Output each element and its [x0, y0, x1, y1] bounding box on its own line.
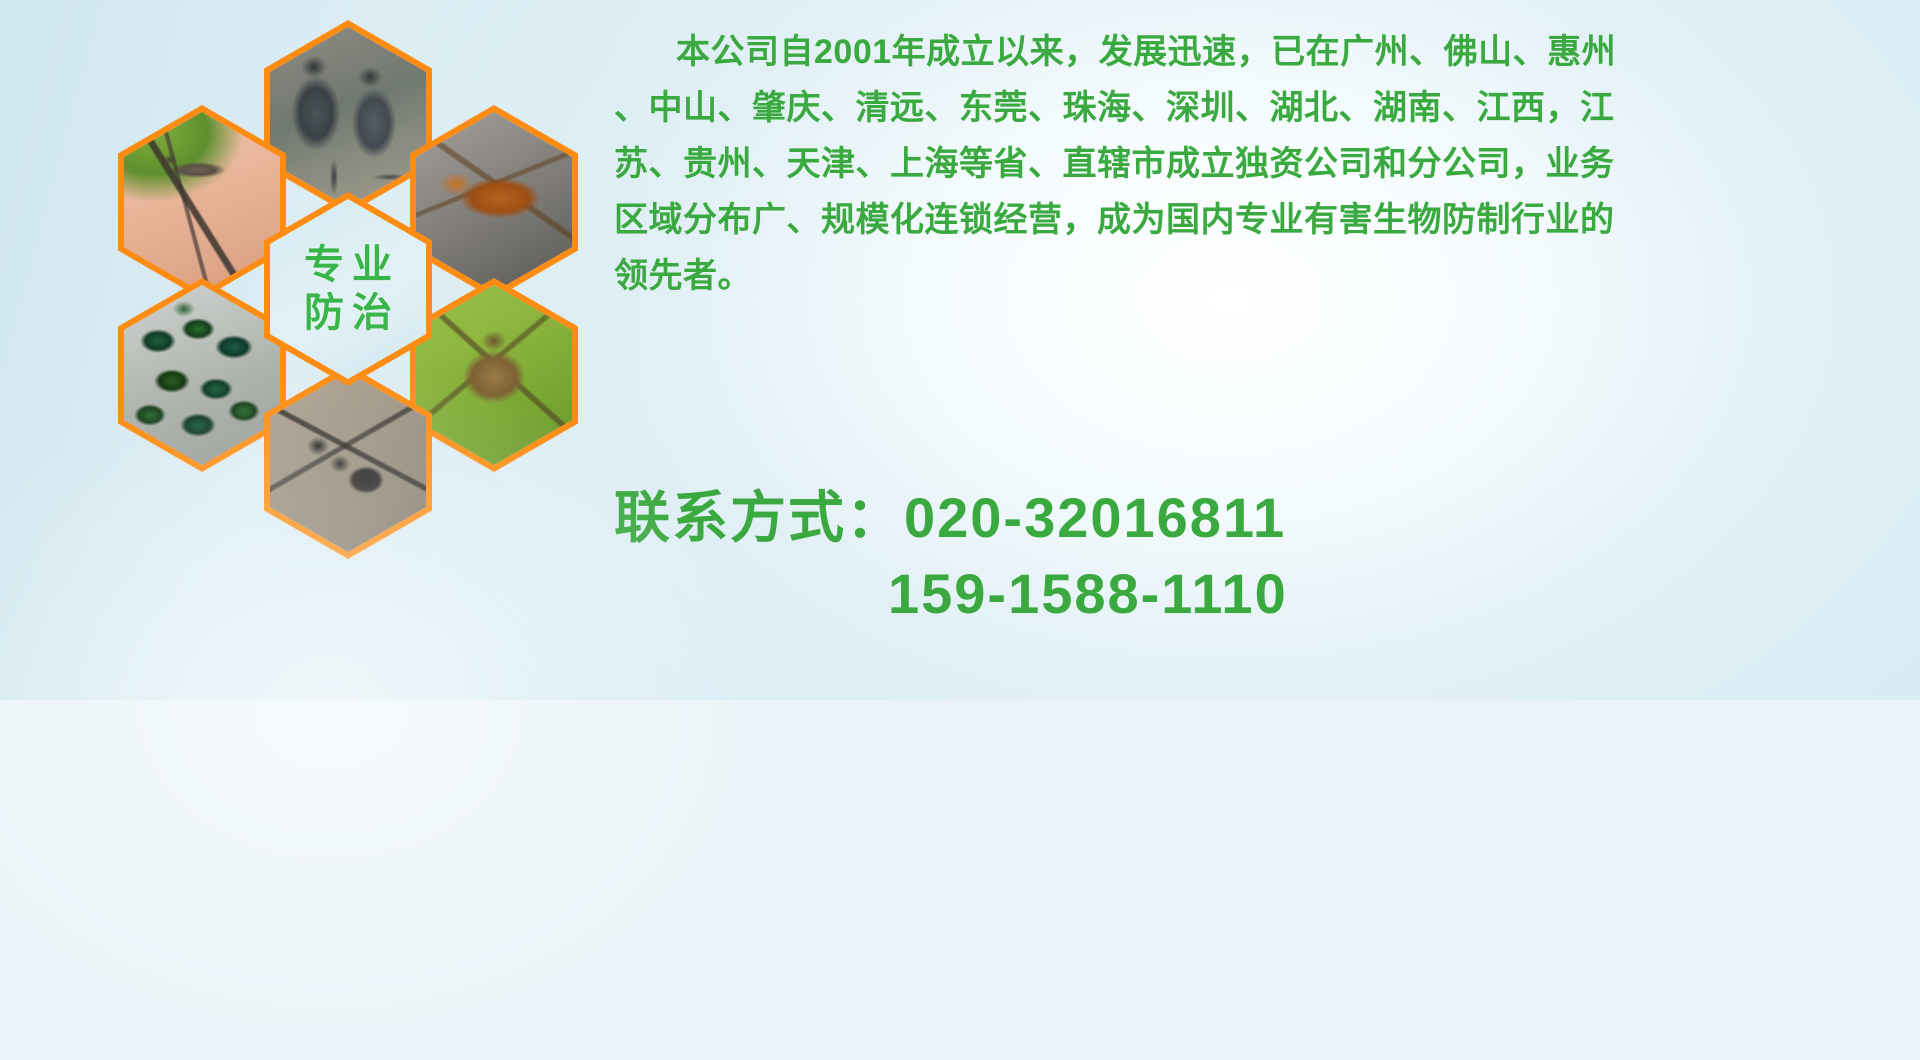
contact-phone-primary[interactable]: 联系方式：020-32016811	[614, 480, 1914, 556]
intro-line-1: 本公司自2001年成立以来，发展迅速，已在广州、佛山、惠州	[614, 24, 1904, 80]
stink-bug-photo	[416, 285, 572, 465]
hex-photo-ant-frame	[270, 372, 426, 552]
hex-photo-stinkbug-frame	[416, 285, 572, 465]
hex-photo-rats-frame	[270, 27, 426, 207]
contact-block: 联系方式：020-32016811 159-1588-1110	[614, 480, 1914, 632]
hex-photo-rats	[264, 20, 432, 214]
hex-photo-cockroach	[410, 105, 578, 299]
intro-line-4: 区域分布广、规模化连锁经营，成为国内专业有害生物防制行业的	[614, 192, 1904, 248]
hex-photo-flies	[118, 278, 286, 472]
logo-text-line1: 专业	[296, 244, 400, 286]
hex-photo-cockroach-frame	[416, 112, 572, 292]
logo-text: 专业 防治	[270, 199, 426, 379]
hex-photo-stinkbug	[410, 278, 578, 472]
honeycomb-photo-collage: 专业 防治	[96, 10, 596, 570]
flies-photo	[124, 285, 280, 465]
intro-line-1-text: 本公司自2001年成立以来，发展迅速，已在广州、佛山、惠州	[676, 33, 1616, 71]
mosquito-photo	[124, 112, 280, 292]
intro-line-2: 、中山、肇庆、清远、东莞、珠海、深圳、湖北、湖南、江西，江	[614, 80, 1904, 136]
ant-photo	[270, 372, 426, 552]
intro-line-3: 苏、贵州、天津、上海等省、直辖市成立独资公司和分公司，业务	[614, 136, 1904, 192]
hex-photo-flies-frame	[124, 285, 280, 465]
logo-text-line2: 防治	[296, 292, 400, 334]
hex-logo-frame: 专业 防治	[270, 199, 426, 379]
pest-control-banner: 专业 防治 本公司自2001年成立以来，发展迅速，已在广州、佛山、惠州 、中山、…	[0, 0, 1920, 700]
contact-phone-secondary[interactable]: 159-1588-1110	[614, 556, 1914, 632]
hex-logo-tile: 专业 防治	[264, 192, 432, 386]
rats-photo	[270, 27, 426, 207]
hex-photo-ant	[264, 365, 432, 559]
intro-paragraph: 本公司自2001年成立以来，发展迅速，已在广州、佛山、惠州 、中山、肇庆、清远、…	[614, 24, 1904, 304]
cockroach-photo	[416, 112, 572, 292]
hex-photo-mosquito	[118, 105, 286, 299]
intro-line-5: 领先者。	[614, 248, 1904, 304]
hex-photo-mosquito-frame	[124, 112, 280, 292]
